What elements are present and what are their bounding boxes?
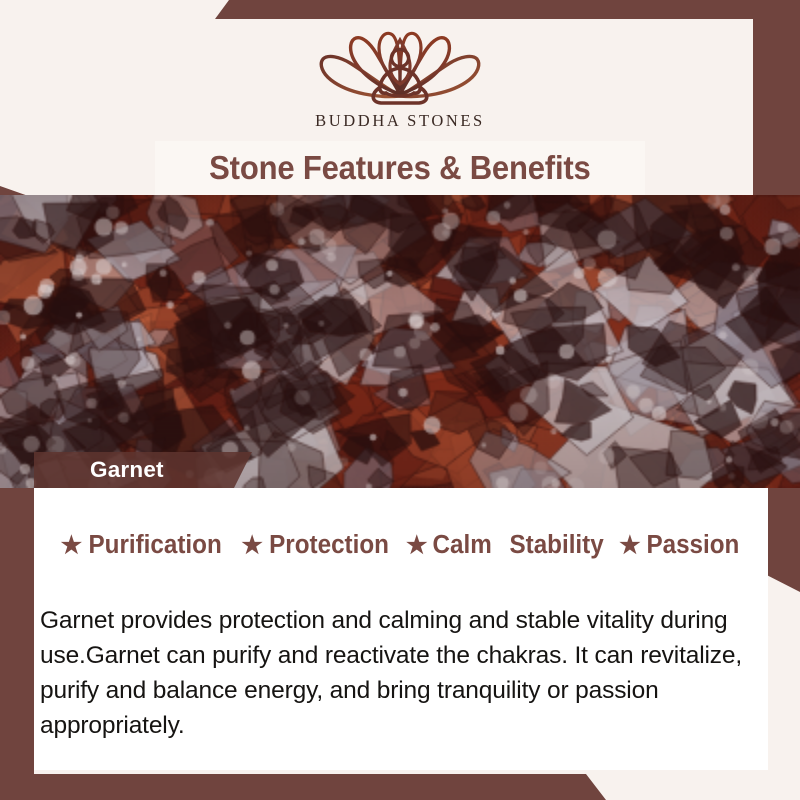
benefit-item: Stability [507, 531, 606, 560]
benefit-label: Passion [646, 531, 739, 560]
benefit-item: ★Protection [241, 531, 392, 560]
benefits-list: ★Purification★Protection★CalmStability★P… [34, 531, 768, 560]
benefit-item: ★Calm [406, 531, 493, 560]
page-title: Stone Features & Benefits [209, 149, 590, 187]
brand-logo: BUDDHA STONES [0, 24, 800, 131]
benefit-label: Calm [432, 531, 491, 560]
stone-name-tag: Garnet [34, 452, 252, 488]
brand-wordmark: BUDDHA STONES [0, 111, 800, 131]
infographic-poster: BUDDHA STONES Stone Features & Benefits … [0, 0, 800, 800]
star-icon: ★ [619, 534, 641, 558]
stone-description: Garnet provides protection and calming a… [40, 603, 756, 743]
benefit-label: Purification [89, 531, 222, 560]
benefit-label: Stability [509, 531, 603, 560]
garnet-photo [0, 195, 800, 488]
benefit-item: ★Passion [619, 531, 741, 560]
star-icon: ★ [241, 534, 263, 558]
garnet-photo-canvas [0, 195, 800, 488]
benefit-label: Protection [269, 531, 389, 560]
frame-band-bottom [0, 774, 800, 800]
star-icon: ★ [406, 534, 428, 558]
title-plate: Stone Features & Benefits [155, 141, 645, 195]
frame-band-top [0, 0, 800, 19]
star-icon: ★ [61, 534, 83, 558]
stone-name-label: Garnet [90, 457, 164, 483]
lotus-meditation-icon [309, 24, 491, 106]
benefit-item: ★Purification [61, 531, 226, 560]
